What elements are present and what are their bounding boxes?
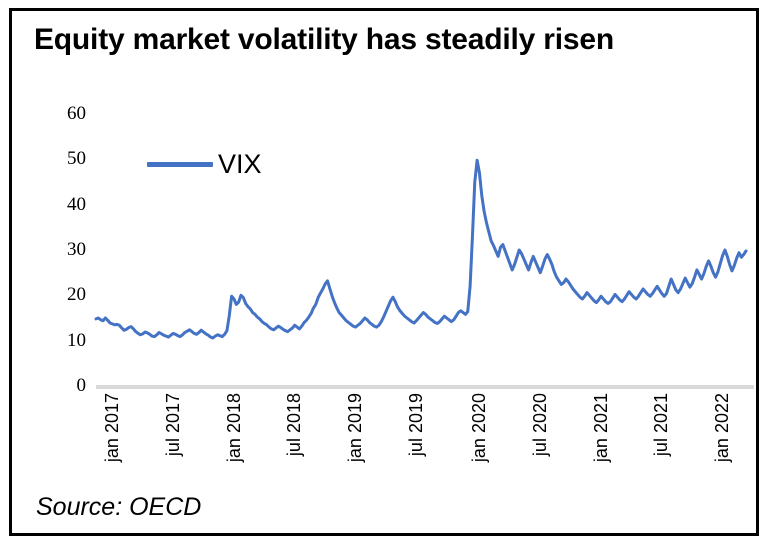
x-tick-label: jul 2017 (163, 393, 184, 456)
x-tick-label: jul 2019 (406, 393, 427, 456)
y-tick-label: 30 (26, 239, 86, 261)
y-axis: 0102030405060 (26, 114, 86, 386)
legend-line-swatch-vix (147, 162, 213, 167)
x-tick-label: jan 2019 (345, 393, 366, 462)
chart-figure: Equity market volatility has steadily ri… (9, 8, 759, 536)
y-tick-label: 10 (26, 330, 86, 352)
chart-legend: VIX (147, 151, 262, 178)
source-note: Source: OECD (36, 493, 201, 522)
x-tick-label: jan 2022 (712, 393, 733, 462)
x-tick-label: jan 2021 (591, 393, 612, 462)
x-axis-line (96, 385, 754, 389)
y-tick-label: 60 (26, 103, 86, 125)
y-tick-label: 20 (26, 284, 86, 306)
x-tick-label: jan 2020 (469, 393, 490, 462)
x-tick-label: jan 2018 (224, 393, 245, 462)
x-tick-label: jul 2020 (530, 393, 551, 456)
page-title: Equity market volatility has steadily ri… (34, 23, 734, 57)
x-tick-label: jul 2021 (651, 393, 672, 456)
y-tick-label: 0 (26, 375, 86, 397)
x-tick-label: jul 2018 (284, 393, 305, 456)
y-tick-label: 40 (26, 194, 86, 216)
y-tick-label: 50 (26, 148, 86, 170)
x-axis: jan 2017jul 2017jan 2018jul 2018jan 2019… (96, 393, 754, 493)
x-tick-label: jan 2017 (102, 393, 123, 462)
legend-label-vix: VIX (215, 151, 262, 178)
